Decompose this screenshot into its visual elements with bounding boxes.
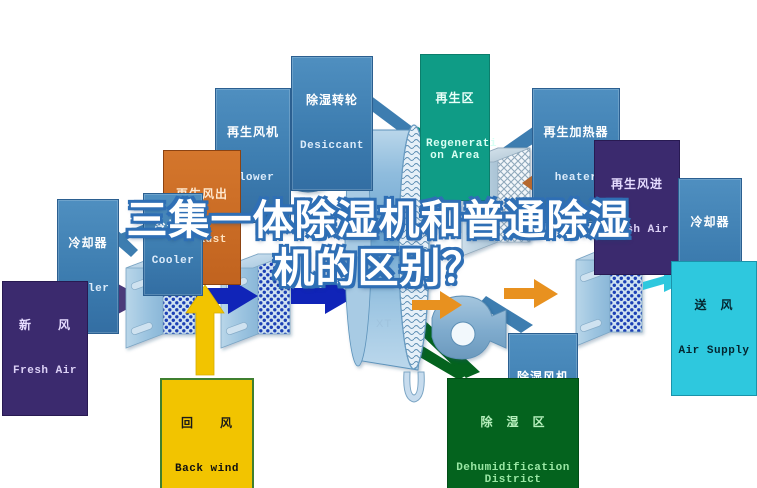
label-desiccant-wheel-en: Desiccant (297, 141, 367, 153)
drain-pan (404, 372, 425, 402)
label-fresh-air-inlet-cn: 新 风 (8, 319, 82, 332)
label-air-supply-en: Air Supply (677, 346, 751, 358)
label-back-wind: 回 风 Back wind (160, 378, 254, 488)
label-regeneration-area-en: Regenerati on Area (426, 139, 484, 163)
label-dehumidification-district-cn: 除 湿 区 (453, 416, 573, 429)
label-cooler-left-upper: 冷却器 Cooler (143, 193, 203, 296)
label-fresh-air-inlet: 新 风 Fresh Air (2, 281, 88, 416)
label-cooler-left-upper-cn: 冷却器 (149, 220, 197, 233)
label-fresh-air-inlet-en: Fresh Air (8, 366, 82, 378)
label-cooler-left-lower-cn: 冷却器 (63, 237, 113, 250)
label-regeneration-fresh-air-cn: 再生风进 (600, 178, 674, 191)
label-regeneration-area: 再生区 Regenerati on Area (420, 54, 490, 201)
label-cooler-right-cn: 冷却器 (684, 216, 736, 229)
label-cooler-left-upper-en: Cooler (149, 256, 197, 268)
label-air-supply-cn: 送 风 (677, 299, 751, 312)
label-back-wind-en: Back wind (167, 464, 247, 476)
label-desiccant-wheel-cn: 除湿转轮 (297, 94, 367, 107)
diagram-canvas: XT (0, 0, 757, 488)
label-regeneration-fresh-air: 再生风进 Fresh Air (594, 140, 680, 275)
label-regeneration-fresh-air-en: Fresh Air (600, 225, 674, 237)
label-air-supply: 送 风 Air Supply (671, 261, 757, 396)
label-desiccant-wheel: 除湿转轮 Desiccant (291, 56, 373, 191)
rotor-mark: XT (376, 318, 392, 330)
label-regeneration-blower-cn: 再生风机 (221, 126, 285, 139)
label-dehumidification-district: 除 湿 区 Dehumidification District (447, 378, 579, 488)
label-dehumidification-district-en: Dehumidification District (453, 463, 573, 487)
label-back-wind-cn: 回 风 (167, 417, 247, 430)
label-regeneration-heater-cn: 再生加热器 (538, 126, 614, 139)
label-regeneration-area-cn: 再生区 (426, 92, 484, 105)
dry-air-arrow-2 (504, 279, 558, 308)
